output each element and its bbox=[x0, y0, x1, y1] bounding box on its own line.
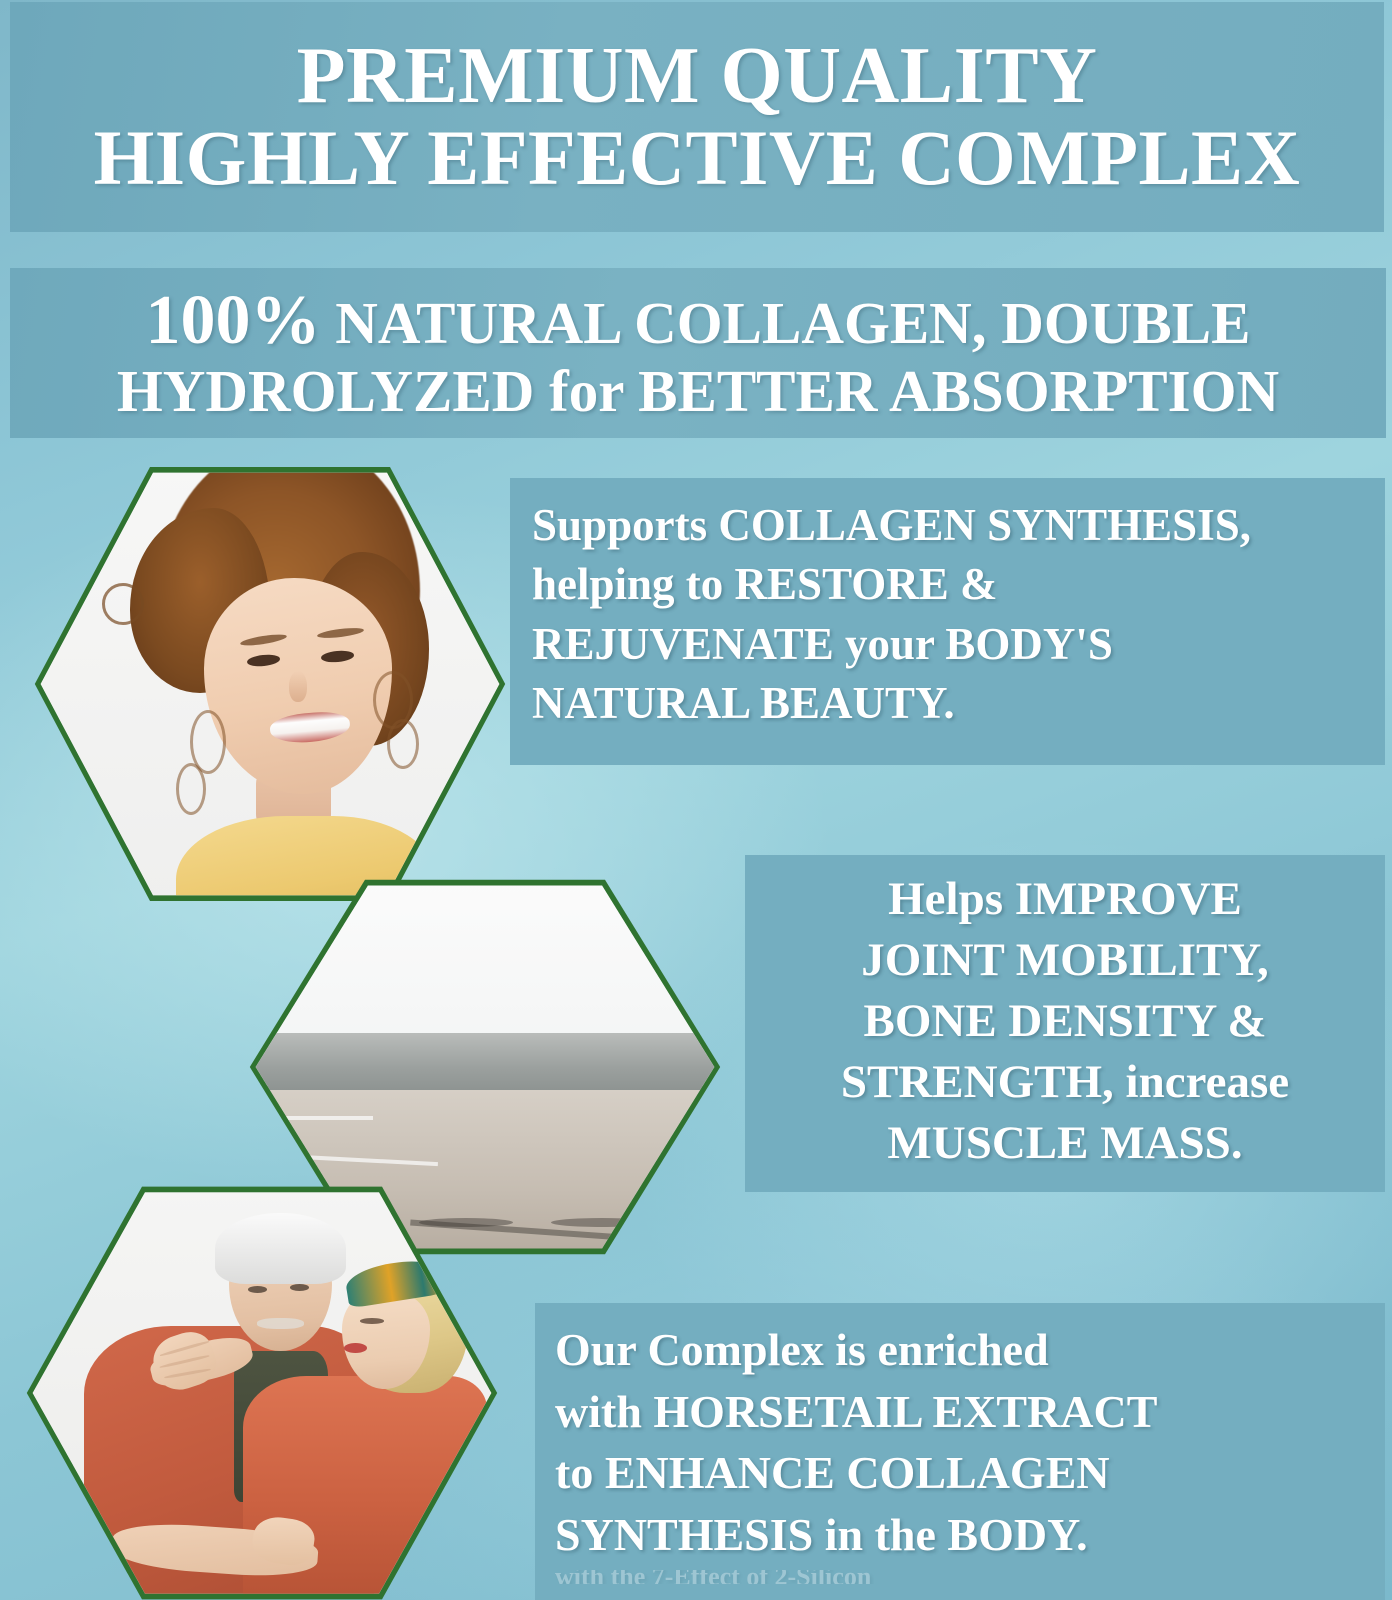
hex-photo-young-woman bbox=[30, 458, 510, 910]
benefit-1-line-3: REJUVENATE your BODY'S bbox=[532, 615, 1359, 674]
benefit-3-cut-off-line: with the 7-Effect of 2-Silicon bbox=[555, 1570, 1365, 1584]
header-title-line-1: PREMIUM QUALITY bbox=[297, 36, 1098, 118]
header-title-line-2: HIGHLY EFFECTIVE COMPLEX bbox=[94, 118, 1301, 198]
man-eye-right bbox=[290, 1284, 309, 1291]
portrait-curl-2 bbox=[387, 719, 419, 769]
benefit-3-line-1: Our Complex is enriched bbox=[555, 1319, 1365, 1381]
man-white-hair bbox=[215, 1213, 346, 1284]
man-moustache bbox=[257, 1318, 304, 1329]
benefit-1-line-1: Supports COLLAGEN SYNTHESIS, bbox=[532, 496, 1359, 555]
man-eye-left bbox=[248, 1286, 267, 1293]
subheader-line-1-rest: NATURAL COLLAGEN, DOUBLE bbox=[321, 290, 1251, 356]
benefit-panel-joint-mobility: Helps IMPROVE JOINT MOBILITY, BONE DENSI… bbox=[745, 855, 1385, 1192]
subheader-banner: 100% NATURAL COLLAGEN, DOUBLE HYDROLYZED… bbox=[10, 268, 1386, 438]
benefit-3-line-3: to ENHANCE COLLAGEN bbox=[555, 1442, 1365, 1504]
benefit-panel-collagen-synthesis: Supports COLLAGEN SYNTHESIS, helping to … bbox=[510, 478, 1385, 765]
benefit-1-line-2: helping to RESTORE & bbox=[532, 555, 1359, 614]
benefit-2-line-1: Helps IMPROVE bbox=[763, 869, 1367, 930]
benefit-1-line-4: NATURAL BEAUTY. bbox=[532, 674, 1359, 733]
woman-closed-eye bbox=[360, 1318, 383, 1324]
runners-wall bbox=[251, 1033, 719, 1097]
benefit-2-line-3: BONE DENSITY & bbox=[763, 991, 1367, 1052]
portrait-curl-5 bbox=[102, 583, 144, 625]
benefit-3-line-4: SYNTHESIS in the BODY. bbox=[555, 1504, 1365, 1566]
subheader-line-1: 100% NATURAL COLLAGEN, DOUBLE bbox=[146, 282, 1251, 359]
infographic-poster: PREMIUM QUALITY HIGHLY EFFECTIVE COMPLEX… bbox=[0, 0, 1392, 1600]
benefit-2-line-4: STRENGTH, increase bbox=[763, 1052, 1367, 1113]
percent-value: 100% bbox=[146, 282, 321, 359]
benefit-2-line-2: JOINT MOBILITY, bbox=[763, 930, 1367, 991]
portrait-nose bbox=[289, 671, 308, 702]
benefit-3-line-2: with HORSETAIL EXTRACT bbox=[555, 1381, 1365, 1443]
benefit-2-line-5: MUSCLE MASS. bbox=[763, 1113, 1367, 1174]
header-banner: PREMIUM QUALITY HIGHLY EFFECTIVE COMPLEX bbox=[10, 2, 1384, 232]
subheader-line-2: HYDROLYZED for BETTER ABSORPTION bbox=[117, 359, 1279, 424]
benefit-panel-horsetail-extract: Our Complex is enriched with HORSETAIL E… bbox=[535, 1303, 1385, 1600]
track-line-2 bbox=[260, 1116, 372, 1120]
hex-photo-inner-1 bbox=[36, 464, 504, 904]
woman-lips bbox=[344, 1343, 367, 1353]
